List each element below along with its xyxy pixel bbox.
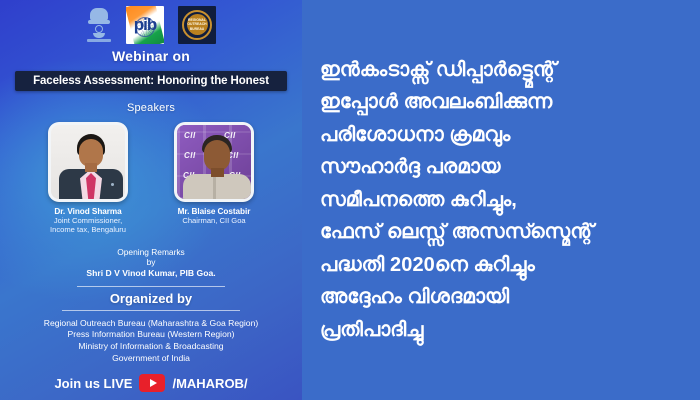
rob-line-3: BUREAU <box>190 27 205 31</box>
organizers-list: Regional Outreach Bureau (Maharashtra & … <box>0 318 302 364</box>
caption-line-7: പദ്ധതി 2020നെ കുറിച്ചും <box>320 249 594 282</box>
caption-line-9: പ്രതിപാദിച്ചു <box>320 314 594 347</box>
pib-logo-icon: pib <box>126 6 164 44</box>
speaker-photo-frame-2: CIICII CIICII CIICII <box>174 122 254 202</box>
speaker-name-2: Mr. Blaise Costabir <box>174 207 254 216</box>
caption-line-4: സൗഹാർദ്ദ പരമായ <box>320 151 594 184</box>
opening-remarks-by: by <box>0 257 302 267</box>
caption-line-8: അദ്ദേഹം വിശദമായി <box>320 281 594 314</box>
speaker-name-1: Dr. Vinod Sharma <box>48 207 128 216</box>
speaker-photo-2: CIICII CIICII CIICII <box>177 125 251 199</box>
organized-by-heading: Organized by <box>0 291 302 306</box>
divider-top <box>77 286 225 287</box>
organizer-line-4: Government of India <box>0 353 302 365</box>
join-live-label: Join us LIVE <box>54 376 132 391</box>
organizer-line-3: Ministry of Information & Broadcasting <box>0 341 302 353</box>
youtube-play-icon[interactable] <box>139 374 165 392</box>
pib-logo-text: pib <box>126 15 164 35</box>
webinar-title-banner: Faceless Assessment: Honoring the Honest <box>15 71 287 91</box>
speaker-card-1: Dr. Vinod Sharma Joint Commissioner, Inc… <box>48 122 128 235</box>
webinar-poster-screenshot: pib REGIONAL OUTREACH BUREAU Webinar on … <box>0 0 700 400</box>
join-live-row: Join us LIVE /MAHAROB/ <box>0 374 302 392</box>
youtube-channel-handle[interactable]: /MAHAROB/ <box>172 376 247 391</box>
speaker-role-1-line-1: Joint Commissioner, <box>48 216 128 225</box>
opening-remarks-person: Shri D V Vinod Kumar, PIB Goa. <box>0 268 302 278</box>
caption-line-6: ഫേസ് ലെസ്സ് അസസ്സ്മെന്റ് <box>320 216 594 249</box>
speaker-photo-frame-1 <box>48 122 128 202</box>
opening-remarks-block: Opening Remarks by Shri D V Vinod Kumar,… <box>0 247 302 278</box>
divider-bottom <box>62 310 240 311</box>
caption-text-block: ഇൻകംടാക്സ് ഡിപ്പാർട്ട്മെന്റ് ഇപ്പോൾ അവലം… <box>320 54 594 347</box>
speaker-card-2: CIICII CIICII CIICII Mr. Blaise Costabir… <box>174 122 254 235</box>
speaker-photo-1 <box>51 125 125 199</box>
caption-panel: ഇൻകംടാക്സ് ഡിപ്പാർട്ട്മെന്റ് ഇപ്പോൾ അവലം… <box>302 0 700 400</box>
speaker-role-1-line-2: Income tax, Bengaluru <box>48 225 128 234</box>
caption-line-1: ഇൻകംടാക്സ് ഡിപ്പാർട്ട്മെന്റ് <box>320 54 594 87</box>
speaker-role-2-line-1: Chairman, CII Goa <box>174 216 254 225</box>
caption-line-5: സമീപനത്തെ കുറിച്ചും, <box>320 184 594 217</box>
caption-line-2: ഇപ്പോൾ അവലംബിക്കുന്ന <box>320 86 594 119</box>
organizer-line-2: Press Information Bureau (Western Region… <box>0 329 302 341</box>
regional-outreach-bureau-logo-icon: REGIONAL OUTREACH BUREAU <box>178 6 216 44</box>
opening-remarks-label: Opening Remarks <box>0 247 302 257</box>
speakers-heading: Speakers <box>0 102 302 114</box>
caption-line-3: പരിശോധനാ ക്രമവും <box>320 119 594 152</box>
logo-row: pib REGIONAL OUTREACH BUREAU <box>0 0 302 44</box>
speakers-row: Dr. Vinod Sharma Joint Commissioner, Inc… <box>0 122 302 235</box>
webinar-on-label: Webinar on <box>0 48 302 64</box>
webinar-poster: pib REGIONAL OUTREACH BUREAU Webinar on … <box>0 0 302 400</box>
state-emblem-of-india-icon <box>86 6 112 44</box>
organizer-line-1: Regional Outreach Bureau (Maharashtra & … <box>0 318 302 330</box>
webinar-title: Faceless Assessment: Honoring the Honest <box>33 75 269 87</box>
